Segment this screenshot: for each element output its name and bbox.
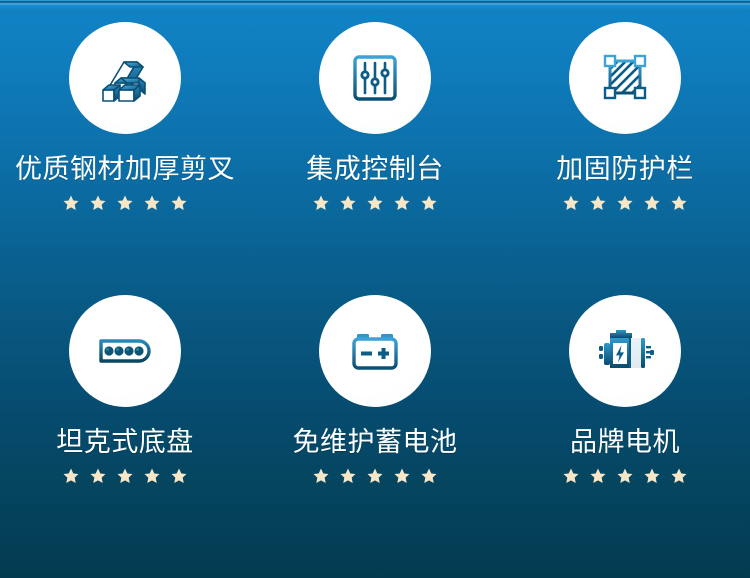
icon-disc	[319, 22, 431, 134]
feature-label: 优质钢材加厚剪叉	[15, 156, 235, 183]
star-icon	[143, 194, 161, 212]
rating-stars	[62, 467, 188, 485]
star-icon	[393, 467, 411, 485]
star-icon	[339, 194, 357, 212]
guardrail-frame-icon	[593, 46, 657, 110]
icon-disc	[69, 295, 181, 407]
star-icon	[312, 467, 330, 485]
icon-disc	[319, 295, 431, 407]
feature-label: 加固防护栏	[556, 156, 694, 183]
feature-label: 免维护蓄电池	[293, 429, 458, 456]
feature-card-guardrail[interactable]: 加固防护栏	[500, 9, 750, 289]
star-icon	[616, 467, 634, 485]
feature-card-tank-chassis[interactable]: 坦克式底盘	[0, 289, 250, 569]
feature-card-control-panel[interactable]: 集成控制台	[250, 9, 500, 289]
star-icon	[670, 194, 688, 212]
star-icon	[420, 467, 438, 485]
star-icon	[62, 467, 80, 485]
rating-stars	[562, 194, 688, 212]
rating-stars	[562, 467, 688, 485]
star-icon	[170, 194, 188, 212]
star-icon	[89, 194, 107, 212]
control-panel-sliders-icon	[343, 46, 407, 110]
star-icon	[312, 194, 330, 212]
star-icon	[143, 467, 161, 485]
star-icon	[170, 467, 188, 485]
feature-label: 坦克式底盘	[56, 429, 194, 456]
star-icon	[62, 194, 80, 212]
feature-label: 品牌电机	[570, 429, 680, 456]
feature-label: 集成控制台	[306, 156, 444, 183]
battery-icon	[343, 319, 407, 383]
rating-stars	[312, 194, 438, 212]
star-icon	[670, 467, 688, 485]
tank-track-icon	[93, 319, 157, 383]
icon-disc	[69, 22, 181, 134]
feature-card-motor[interactable]: 品牌电机	[500, 289, 750, 569]
star-icon	[643, 194, 661, 212]
star-icon	[562, 194, 580, 212]
star-icon	[366, 194, 384, 212]
icon-disc	[569, 295, 681, 407]
star-icon	[562, 467, 580, 485]
star-icon	[116, 194, 134, 212]
icon-disc	[569, 22, 681, 134]
steel-tubes-icon	[93, 46, 157, 110]
star-icon	[393, 194, 411, 212]
feature-grid: 优质钢材加厚剪叉	[0, 9, 750, 569]
star-icon	[89, 467, 107, 485]
star-icon	[589, 467, 607, 485]
star-icon	[616, 194, 634, 212]
star-icon	[643, 467, 661, 485]
electric-motor-icon	[593, 319, 657, 383]
feature-card-battery[interactable]: 免维护蓄电池	[250, 289, 500, 569]
top-accent-strip	[0, 0, 750, 9]
feature-highlight-banner: 优质钢材加厚剪叉	[0, 0, 750, 578]
star-icon	[366, 467, 384, 485]
star-icon	[339, 467, 357, 485]
star-icon	[116, 467, 134, 485]
rating-stars	[312, 467, 438, 485]
star-icon	[589, 194, 607, 212]
rating-stars	[62, 194, 188, 212]
star-icon	[420, 194, 438, 212]
feature-card-steel[interactable]: 优质钢材加厚剪叉	[0, 9, 250, 289]
